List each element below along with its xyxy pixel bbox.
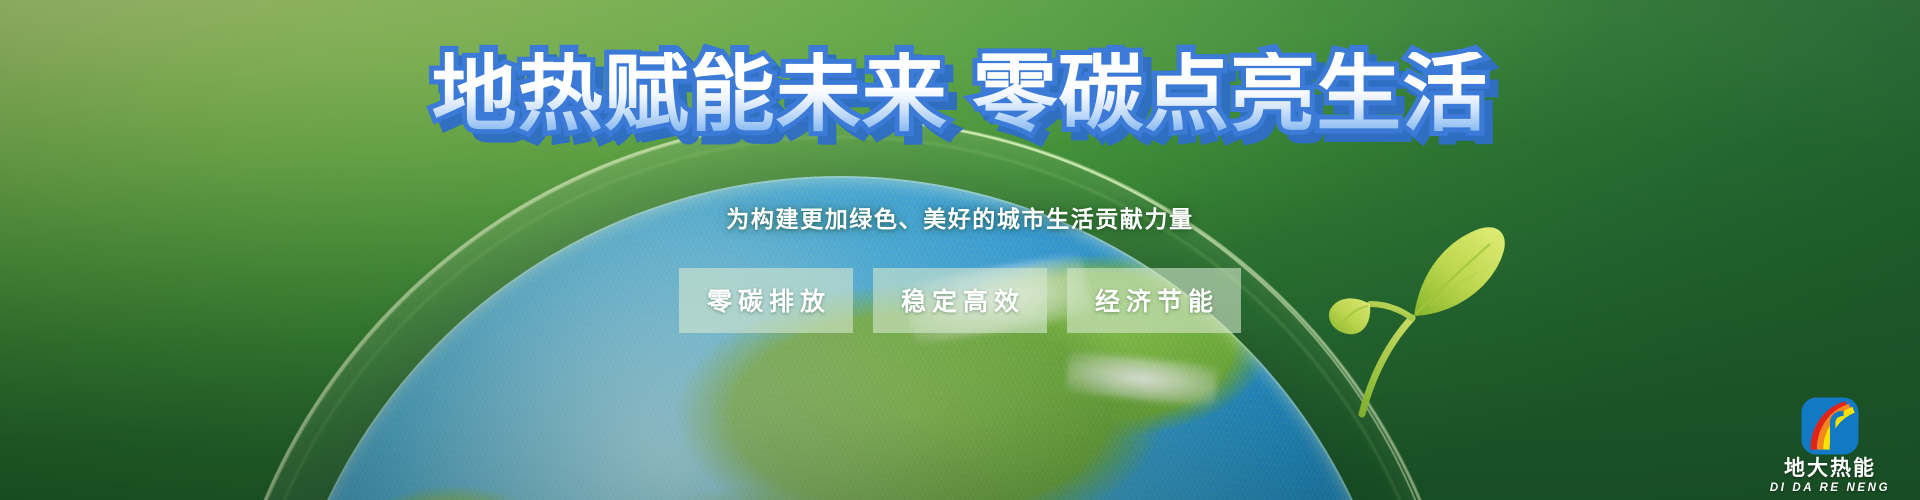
logo-name-en: DI DA RE NENG xyxy=(1764,482,1896,494)
feature-tag-stable-efficient[interactable]: 稳定高效 xyxy=(873,268,1047,333)
company-logo[interactable]: 地大热能 DI DA RE NENG xyxy=(1764,397,1896,494)
feature-tag-zero-carbon[interactable]: 零碳排放 xyxy=(679,268,853,333)
feature-tag-economical[interactable]: 经济节能 xyxy=(1067,268,1241,333)
logo-name-cn: 地大热能 xyxy=(1764,458,1896,480)
hero-banner: 地热赋能未来 零碳点亮生活 地热赋能未来 零碳点亮生活 地热赋能未来 零碳点亮生… xyxy=(0,0,1920,500)
page-title-fill-layer: 地热赋能未来 零碳点亮生活 xyxy=(0,52,1920,137)
banner-content: 地热赋能未来 零碳点亮生活 地热赋能未来 零碳点亮生活 地热赋能未来 零碳点亮生… xyxy=(0,0,1920,500)
didareneng-rainbow-logo-icon xyxy=(1801,397,1859,455)
banner-subtitle: 为构建更加绿色、美好的城市生活贡献力量 xyxy=(0,200,1920,234)
feature-tag-list: 零碳排放 稳定高效 经济节能 xyxy=(0,268,1920,333)
